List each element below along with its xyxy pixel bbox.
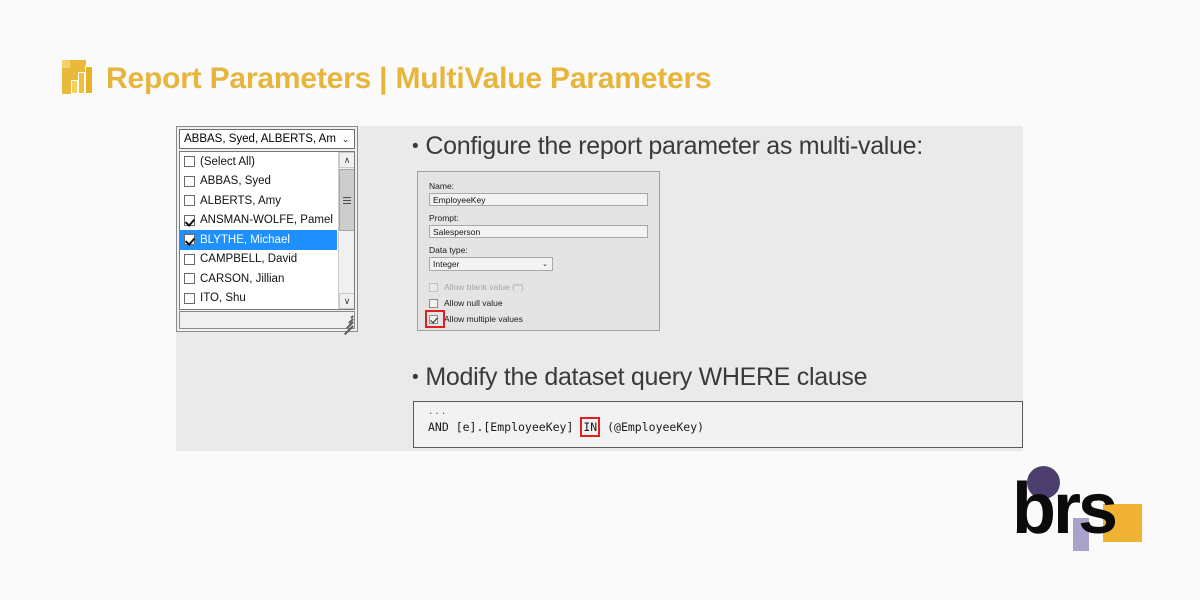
checkbox-icon bbox=[429, 283, 438, 292]
list-item[interactable]: ITO, Shu bbox=[180, 289, 337, 309]
bullet-text: Configure the report parameter as multi-… bbox=[425, 132, 923, 160]
brs-logo: brs bbox=[1012, 466, 1142, 550]
allow-multiple-values-label: Allow multiple values bbox=[444, 314, 523, 324]
list-item[interactable]: CAMPBELL, David bbox=[180, 250, 337, 270]
code-keyword-in: IN bbox=[580, 420, 600, 434]
list-item[interactable]: JIANG, Stephen bbox=[180, 308, 337, 310]
bullet-modify-query: •Modify the dataset query WHERE clause bbox=[412, 363, 867, 392]
datatype-label: Data type: bbox=[429, 245, 648, 255]
list-item-label: BLYTHE, Michael bbox=[200, 234, 290, 246]
bullet-marker: • bbox=[412, 367, 418, 388]
list-item-label: ALBERTS, Amy bbox=[200, 195, 281, 207]
list-item-label: ANSMAN-WOLFE, Pamel bbox=[200, 214, 333, 226]
list-item-label: CARSON, Jillian bbox=[200, 273, 284, 285]
checkbox-icon[interactable] bbox=[429, 299, 438, 308]
page-title: Report Parameters | MultiValue Parameter… bbox=[62, 58, 711, 100]
slide-canvas: Report Parameters | MultiValue Parameter… bbox=[0, 0, 1200, 600]
checkbox-icon[interactable] bbox=[184, 195, 195, 206]
checkbox-checked-icon[interactable] bbox=[429, 315, 438, 324]
multivalue-parameter-listbox[interactable]: ABBAS, Syed, ALBERTS, Am ⌄ (Select All) … bbox=[176, 126, 358, 332]
list-item-label: ITO, Shu bbox=[200, 292, 246, 304]
allow-blank-value-label: Allow blank value ("") bbox=[444, 282, 524, 292]
list-item[interactable]: (Select All) bbox=[180, 152, 337, 172]
parameter-dropdown[interactable]: ABBAS, Syed, ALBERTS, Am ⌄ bbox=[179, 129, 355, 149]
allow-null-value-label: Allow null value bbox=[444, 298, 503, 308]
bullet-text: Modify the dataset query WHERE clause bbox=[425, 363, 867, 391]
bullet-marker: • bbox=[412, 136, 418, 157]
checkbox-icon[interactable] bbox=[184, 176, 195, 187]
checkbox-icon[interactable] bbox=[184, 156, 195, 167]
content-panel: ABBAS, Syed, ALBERTS, Am ⌄ (Select All) … bbox=[176, 126, 1023, 451]
checkbox-icon[interactable] bbox=[184, 273, 195, 284]
scroll-down-icon[interactable]: ∨ bbox=[339, 293, 355, 309]
scroll-up-icon[interactable]: ∧ bbox=[339, 152, 355, 168]
list-item[interactable]: ALBERTS, Amy bbox=[180, 191, 337, 211]
allow-multiple-values-row[interactable]: Allow multiple values bbox=[429, 312, 648, 326]
bullet-configure: •Configure the report parameter as multi… bbox=[412, 132, 923, 161]
grip-icon bbox=[343, 195, 351, 206]
list-item[interactable]: CARSON, Jillian bbox=[180, 269, 337, 289]
parameter-properties-dialog: Name: EmployeeKey Prompt: Salesperson Da… bbox=[417, 171, 660, 331]
logo-wordmark: brs bbox=[1012, 473, 1115, 545]
list-item-label: ABBAS, Syed bbox=[200, 175, 271, 187]
resize-grip-icon[interactable] bbox=[340, 314, 353, 327]
code-prefix: AND [e].[EmployeeKey] bbox=[428, 420, 580, 434]
allow-null-value-row[interactable]: Allow null value bbox=[429, 296, 648, 310]
parameter-dropdown-value: ABBAS, Syed, ALBERTS, Am bbox=[180, 133, 337, 145]
code-keyword-text: IN bbox=[583, 420, 597, 434]
list-item[interactable]: ABBAS, Syed bbox=[180, 172, 337, 192]
checkbox-checked-icon[interactable] bbox=[184, 215, 195, 226]
list-item-selected[interactable]: BLYTHE, Michael bbox=[180, 230, 337, 250]
list-item-label: CAMPBELL, David bbox=[200, 253, 297, 265]
scrollbar-thumb[interactable] bbox=[339, 169, 355, 231]
query-code-box[interactable]: ... AND [e].[EmployeeKey] IN (@EmployeeK… bbox=[413, 401, 1023, 448]
list-item[interactable]: ANSMAN-WOLFE, Pamel bbox=[180, 211, 337, 231]
chevron-down-icon[interactable]: ⌄ bbox=[337, 130, 354, 148]
datatype-select[interactable]: Integer ⌄ bbox=[429, 257, 553, 271]
parameter-option-list[interactable]: (Select All) ABBAS, Syed ALBERTS, Amy AN… bbox=[179, 151, 355, 310]
datatype-value: Integer bbox=[430, 259, 538, 269]
list-scrollbar[interactable]: ∧ ∨ bbox=[338, 152, 354, 309]
name-label: Name: bbox=[429, 181, 648, 191]
name-field[interactable]: EmployeeKey bbox=[429, 193, 648, 206]
prompt-field[interactable]: Salesperson bbox=[429, 225, 648, 238]
paginated-report-icon bbox=[62, 58, 96, 100]
checkbox-icon[interactable] bbox=[184, 254, 195, 265]
page-title-text: Report Parameters | MultiValue Parameter… bbox=[106, 62, 711, 96]
chevron-down-icon[interactable]: ⌄ bbox=[538, 260, 552, 268]
code-ellipsis: ... bbox=[428, 407, 1022, 417]
checkbox-icon[interactable] bbox=[184, 293, 195, 304]
checkbox-checked-icon[interactable] bbox=[184, 234, 195, 245]
allow-blank-value-row: Allow blank value ("") bbox=[429, 280, 648, 294]
code-suffix: (@EmployeeKey) bbox=[600, 420, 704, 434]
list-item-label: (Select All) bbox=[200, 156, 255, 168]
parameter-option-items: (Select All) ABBAS, Syed ALBERTS, Amy AN… bbox=[180, 152, 337, 310]
code-line: AND [e].[EmployeeKey] IN (@EmployeeKey) bbox=[428, 420, 704, 434]
prompt-label: Prompt: bbox=[429, 213, 648, 223]
listbox-footer bbox=[179, 311, 355, 329]
